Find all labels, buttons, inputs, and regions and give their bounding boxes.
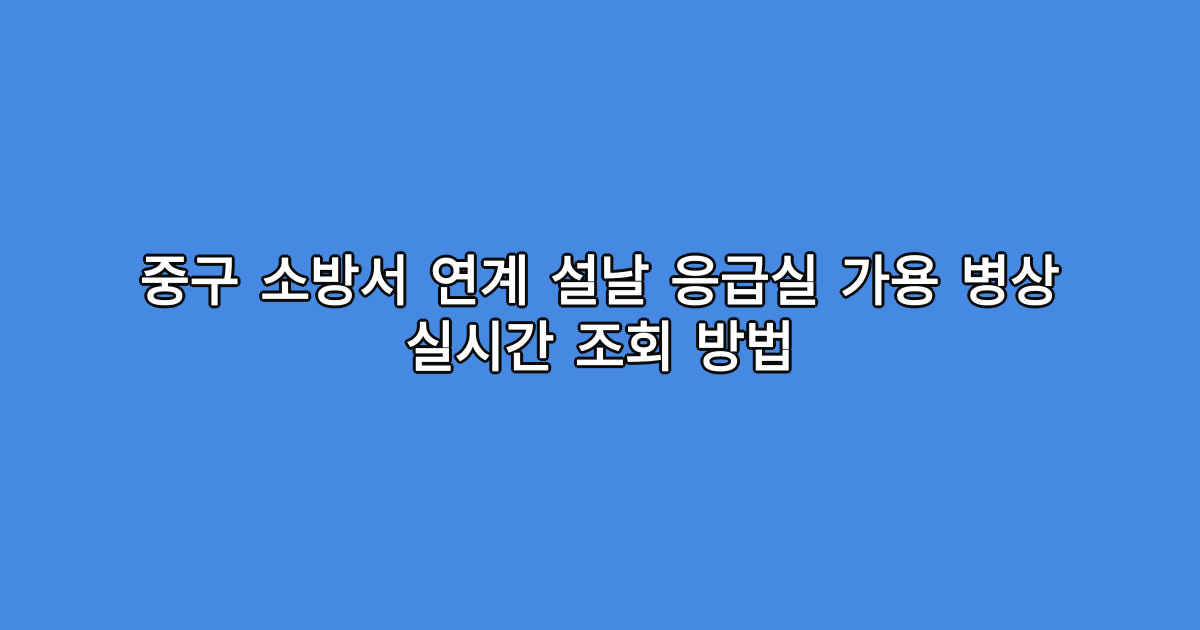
page-title: 중구 소방서 연계 설날 응급실 가용 병상 실시간 조회 방법 [85,249,1115,381]
headline-block: 중구 소방서 연계 설날 응급실 가용 병상 실시간 조회 방법 [65,249,1135,381]
banner-card: 중구 소방서 연계 설날 응급실 가용 병상 실시간 조회 방법 [0,0,1200,630]
